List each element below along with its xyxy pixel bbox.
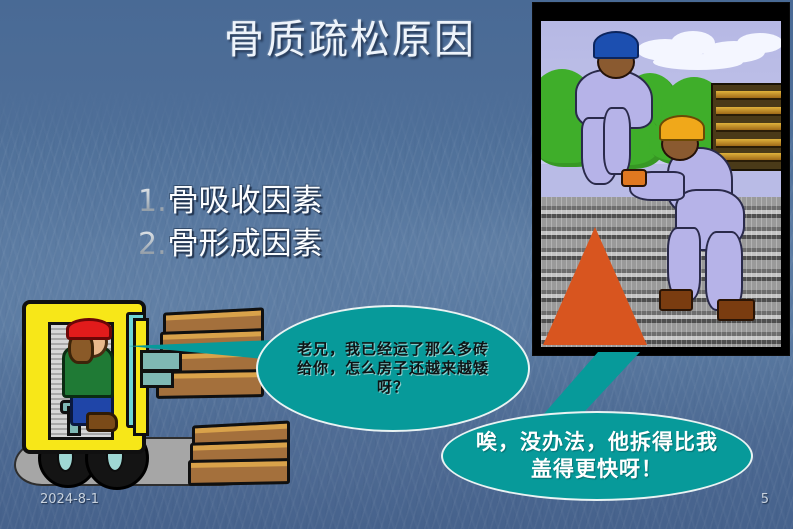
- worker-upper-arm: [603, 107, 631, 175]
- worker-boot: [659, 289, 693, 311]
- speech-bubble-roofer-text: 唉，没办法，他拆得比我盖得更快呀！: [466, 429, 728, 484]
- speech-bubble-driver-text: 老兄，我已经运了那么多砖给你，怎么房子还越来越矮呀？: [290, 340, 496, 398]
- hardhat-icon: [659, 115, 705, 141]
- list-item-label: 骨吸收因素: [168, 180, 323, 223]
- hammer-icon: [621, 169, 647, 187]
- photo-inner: [541, 21, 781, 347]
- list-item: 2. 骨形成因素: [138, 223, 323, 266]
- list-item: 1. 骨吸收因素: [138, 180, 323, 223]
- driver-shoe: [86, 412, 118, 432]
- speech-bubble-roofer: 唉，没办法，他拆得比我盖得更快呀！: [441, 411, 753, 501]
- bullet-list: 1. 骨吸收因素 2. 骨形成因素: [138, 180, 323, 266]
- worker-boot: [717, 299, 755, 321]
- forklift-tine: [140, 370, 174, 388]
- presentation-slide: 骨质疏松原因 1. 骨吸收因素 2. 骨形成因素: [0, 0, 793, 529]
- construction-workers-photo: [532, 2, 790, 356]
- list-item-number: 2.: [138, 224, 167, 265]
- driver-cap: [66, 318, 112, 340]
- footer-page-number: 5: [761, 492, 769, 507]
- speech-bubble-driver: 老兄，我已经运了那么多砖给你，怎么房子还越来越矮呀？: [256, 305, 530, 432]
- page-title: 骨质疏松原因: [150, 18, 550, 62]
- gable-roof: [543, 227, 647, 345]
- speech-bubble-tail: [128, 340, 274, 360]
- footer-date: 2024-8-1: [40, 492, 99, 507]
- brick-stack-item: [188, 458, 290, 486]
- cloud-shape: [653, 54, 743, 70]
- list-item-number: 1.: [138, 181, 167, 222]
- list-item-label: 骨形成因素: [168, 223, 323, 266]
- cloud-shape: [737, 33, 781, 53]
- hardhat-icon: [593, 31, 639, 59]
